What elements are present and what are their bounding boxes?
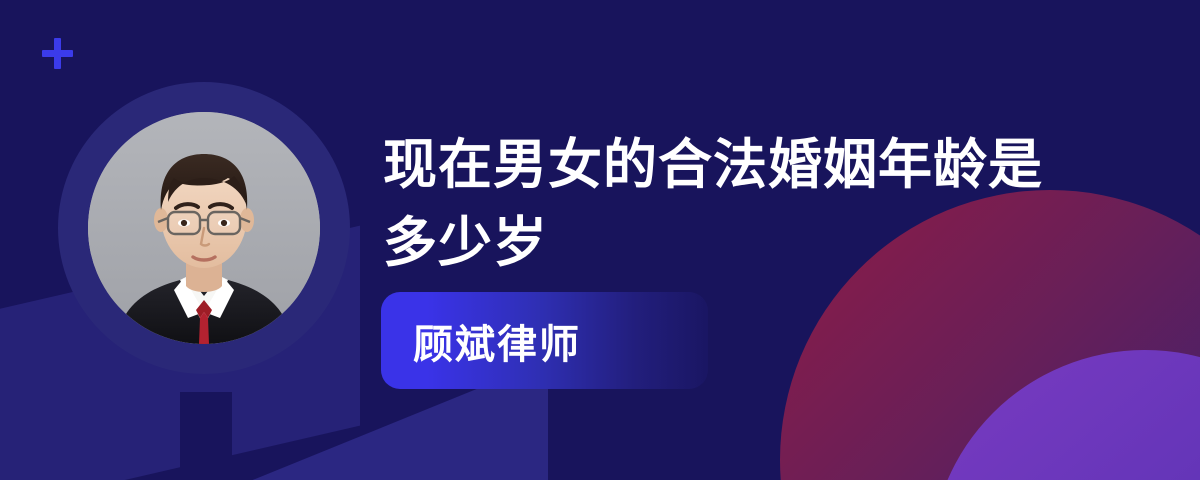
plus-icon [42,38,73,69]
plus-icon-bar-vertical [54,38,61,69]
page-title: 现在男女的合法婚姻年龄是多少岁 [383,126,1083,282]
decorative-notch-shape [180,392,232,480]
banner-card: 现在男女的合法婚姻年龄是多少岁 顾斌律师 [0,0,1200,480]
lawyer-name-button[interactable]: 顾斌律师 [381,292,708,389]
avatar [88,112,320,344]
portrait-image [88,112,320,344]
